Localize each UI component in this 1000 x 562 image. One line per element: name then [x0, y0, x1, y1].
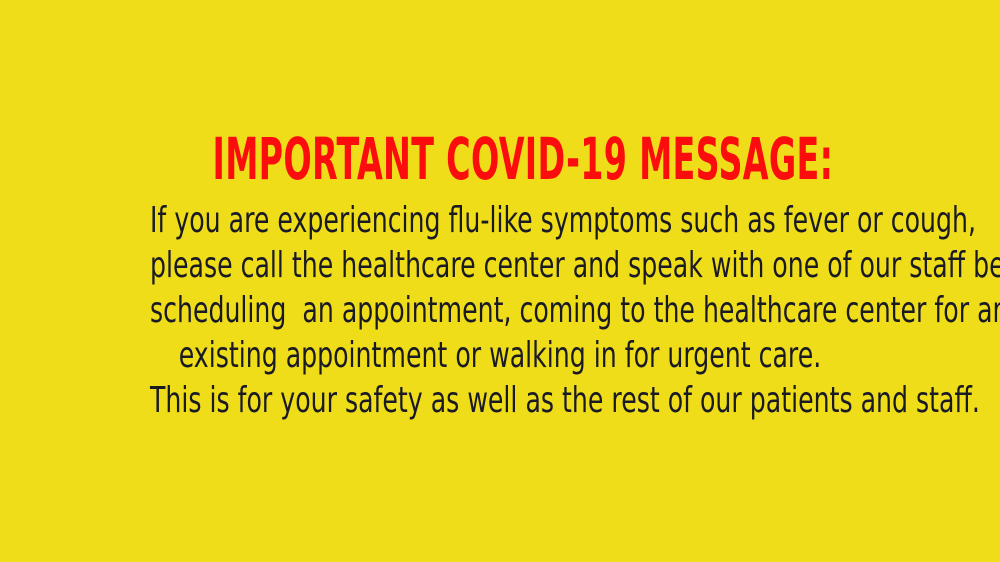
notice-body-line: This is for your safety as well as the r… — [150, 378, 850, 423]
notice-body-line: scheduling an appointment, coming to the… — [150, 288, 850, 333]
notice-body-line: If you are experiencing flu-like symptom… — [150, 198, 850, 243]
page-title: IMPORTANT COVID-19 MESSAGE: — [213, 128, 788, 190]
covid-notice-slide: IMPORTANT COVID-19 MESSAGE: If you are e… — [0, 0, 1000, 562]
notice-body-line: please call the healthcare center and sp… — [150, 243, 850, 288]
notice-body-text: If you are experiencing flu-like symptom… — [0, 190, 1000, 423]
notice-content: IMPORTANT COVID-19 MESSAGE: If you are e… — [0, 0, 1000, 423]
notice-body-line: existing appointment or walking in for u… — [150, 333, 850, 378]
